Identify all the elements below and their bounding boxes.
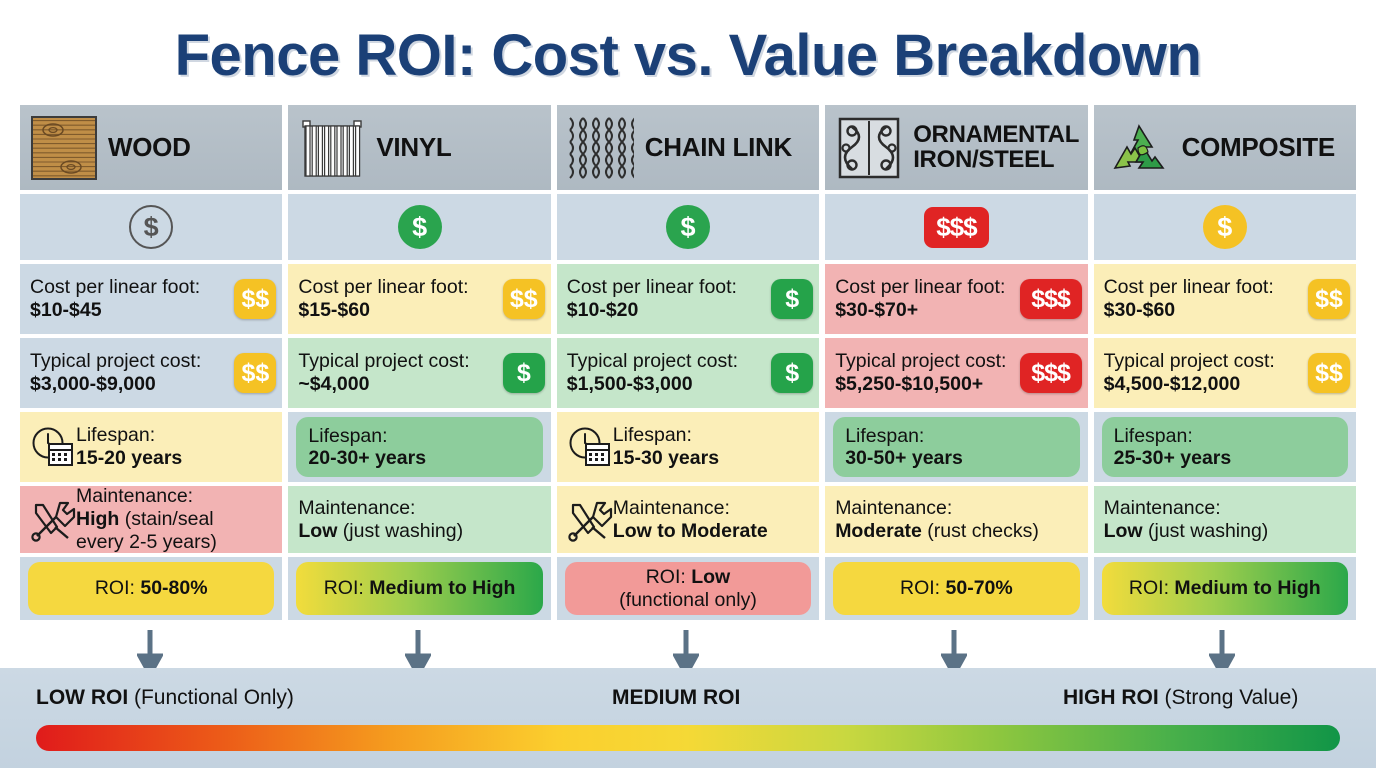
- project-cost-badge: $$: [1308, 353, 1350, 393]
- cost-badge: $$$: [1020, 353, 1082, 393]
- cost-badge: $: [771, 353, 813, 393]
- chain-link-icon: [565, 115, 637, 181]
- lifespan-pill: Lifespan:20-30+ years: [296, 417, 542, 477]
- lifespan-cell: Lifespan:20-30+ years: [288, 412, 550, 482]
- roi-pill: ROI: 50-70%: [833, 562, 1079, 615]
- cost-badge: $$: [1308, 353, 1350, 393]
- scale-label-medium: MEDIUM ROI: [612, 686, 740, 710]
- lifespan-text: Lifespan:15-20 years: [76, 424, 182, 470]
- column-composite: COMPOSITE$Cost per linear foot:$30-$60$$…: [1094, 105, 1356, 625]
- maintenance-text: Maintenance:Low to Moderate: [613, 497, 768, 543]
- roi-gradient-bar: [36, 725, 1340, 751]
- page-title: Fence ROI: Cost vs. Value Breakdown: [0, 22, 1376, 89]
- column-header-chain-link[interactable]: CHAIN LINK: [557, 105, 819, 190]
- cost-per-foot-text: Cost per linear foot:$10-$20: [567, 276, 737, 322]
- cost-per-foot-badge: $: [771, 279, 813, 319]
- scale-label-high: HIGH ROI (Strong Value): [1063, 686, 1298, 710]
- project-cost-badge: $$$: [1020, 353, 1082, 393]
- cost-badge: $: [503, 353, 545, 393]
- price-level-row: $: [20, 194, 282, 260]
- comparison-grid: WOOD$Cost per linear foot:$10-$45$$Typic…: [20, 105, 1356, 625]
- project-cost-text: Typical project cost:~$4,000: [298, 350, 469, 396]
- roi-pill: ROI: Medium to High: [296, 562, 542, 615]
- price-badge: $: [1203, 205, 1247, 249]
- cost-badge: $$: [234, 353, 276, 393]
- project-cost-cell: Typical project cost:~$4,000$: [288, 338, 550, 408]
- lifespan-cell: Lifespan:25-30+ years: [1094, 412, 1356, 482]
- lifespan-cell: Lifespan:15-20 years: [20, 412, 282, 482]
- lifespan-text: Lifespan:15-30 years: [613, 424, 719, 470]
- project-cost-badge: $: [771, 353, 813, 393]
- roi-text: ROI: Low(functional only): [619, 566, 757, 611]
- lifespan-cell: Lifespan:15-30 years: [557, 412, 819, 482]
- price-level-row: $: [557, 194, 819, 260]
- cost-per-foot-text: Cost per linear foot:$30-$60: [1104, 276, 1274, 322]
- cost-per-foot-badge: $$$: [1020, 279, 1082, 319]
- roi-cell: ROI: Medium to High: [1094, 557, 1356, 620]
- cost-per-foot-cell: Cost per linear foot:$30-$60$$: [1094, 264, 1356, 334]
- cost-per-foot-text: Cost per linear foot:$10-$45: [30, 276, 200, 322]
- cost-badge: $$: [1308, 279, 1350, 319]
- wrench-screwdriver-icon: [30, 497, 76, 543]
- price-level-row: $$$: [825, 194, 1087, 260]
- roi-pill: ROI: Low(functional only): [565, 562, 811, 615]
- cost-per-foot-text: Cost per linear foot:$15-$60: [298, 276, 468, 322]
- project-cost-cell: Typical project cost:$3,000-$9,000$$: [20, 338, 282, 408]
- wood-plank-icon: [28, 115, 100, 181]
- project-cost-text: Typical project cost:$4,500-$12,000: [1104, 350, 1275, 396]
- infographic-page: Fence ROI: Cost vs. Value Breakdown WOOD…: [0, 0, 1376, 768]
- roi-text: ROI: 50-70%: [900, 577, 1013, 599]
- maintenance-text: Maintenance:Low (just washing): [298, 497, 463, 543]
- ornamental-iron-icon: [833, 115, 905, 181]
- maintenance-text: Maintenance:High (stain/sealevery 2-5 ye…: [76, 485, 217, 554]
- roi-text: ROI: Medium to High: [1129, 577, 1321, 599]
- cost-per-foot-cell: Cost per linear foot:$15-$60$$: [288, 264, 550, 334]
- cost-per-foot-badge: $$: [503, 279, 545, 319]
- column-title: WOOD: [108, 134, 191, 161]
- lifespan-cell: Lifespan:30-50+ years: [825, 412, 1087, 482]
- price-badge: $$$: [924, 207, 988, 248]
- column-vinyl: VINYL$Cost per linear foot:$15-$60$$Typi…: [288, 105, 550, 625]
- cost-per-foot-cell: Cost per linear foot:$10-$45$$: [20, 264, 282, 334]
- cost-per-foot-cell: Cost per linear foot:$30-$70+$$$: [825, 264, 1087, 334]
- recycle-icon: [1102, 115, 1174, 181]
- roi-scale-labels: LOW ROI (Functional Only) MEDIUM ROI HIG…: [0, 686, 1376, 716]
- maintenance-text: Maintenance:Low (just washing): [1104, 497, 1269, 543]
- cost-badge: $$$: [1020, 279, 1082, 319]
- price-badge: $: [129, 205, 173, 249]
- project-cost-badge: $$: [234, 353, 276, 393]
- column-title: CHAIN LINK: [645, 134, 792, 161]
- price-badge: $: [666, 205, 710, 249]
- column-header-composite[interactable]: COMPOSITE: [1094, 105, 1356, 190]
- roi-text: ROI: 50-80%: [95, 577, 208, 599]
- clock-calendar-icon: [30, 426, 76, 468]
- column-title: ORNAMENTALIRON/STEEL: [913, 123, 1079, 172]
- roi-cell: ROI: 50-80%: [20, 557, 282, 620]
- project-cost-cell: Typical project cost:$4,500-$12,000$$: [1094, 338, 1356, 408]
- cost-badge: $: [771, 279, 813, 319]
- cost-badge: $$: [234, 279, 276, 319]
- price-level-row: $: [288, 194, 550, 260]
- cost-per-foot-badge: $$: [234, 279, 276, 319]
- cost-badge: $$: [503, 279, 545, 319]
- roi-pill: ROI: Medium to High: [1102, 562, 1348, 615]
- column-header-ornamental-iron-steel[interactable]: ORNAMENTALIRON/STEEL: [825, 105, 1087, 190]
- vinyl-fence-icon: [296, 115, 368, 181]
- maintenance-cell: Maintenance:Moderate (rust checks): [825, 486, 1087, 553]
- project-cost-text: Typical project cost:$1,500-$3,000: [567, 350, 738, 396]
- lifespan-pill: Lifespan:30-50+ years: [833, 417, 1079, 477]
- lifespan-pill: Lifespan:25-30+ years: [1102, 417, 1348, 477]
- price-badge: $: [398, 205, 442, 249]
- price-level-row: $: [1094, 194, 1356, 260]
- lifespan-text: Lifespan:20-30+ years: [308, 425, 426, 470]
- column-chain-link: CHAIN LINK$Cost per linear foot:$10-$20$…: [557, 105, 819, 625]
- clock-calendar-icon: [567, 426, 613, 468]
- maintenance-cell: Maintenance:Low to Moderate: [557, 486, 819, 553]
- maintenance-cell: Maintenance:Low (just washing): [288, 486, 550, 553]
- column-title: VINYL: [376, 134, 451, 161]
- cost-per-foot-text: Cost per linear foot:$30-$70+: [835, 276, 1005, 322]
- roi-cell: ROI: 50-70%: [825, 557, 1087, 620]
- scale-label-low: LOW ROI (Functional Only): [36, 686, 294, 710]
- project-cost-cell: Typical project cost:$5,250-$10,500+$$$: [825, 338, 1087, 408]
- column-header-vinyl[interactable]: VINYL: [288, 105, 550, 190]
- maintenance-cell: Maintenance:Low (just washing): [1094, 486, 1356, 553]
- column-header-wood[interactable]: WOOD: [20, 105, 282, 190]
- roi-pill: ROI: 50-80%: [28, 562, 274, 615]
- column-title: COMPOSITE: [1182, 134, 1335, 161]
- column-wood: WOOD$Cost per linear foot:$10-$45$$Typic…: [20, 105, 282, 625]
- project-cost-badge: $: [503, 353, 545, 393]
- maintenance-cell: Maintenance:High (stain/sealevery 2-5 ye…: [20, 486, 282, 553]
- wrench-screwdriver-icon: [567, 497, 613, 543]
- roi-text: ROI: Medium to High: [324, 577, 516, 599]
- lifespan-text: Lifespan:30-50+ years: [845, 425, 963, 470]
- roi-cell: ROI: Medium to High: [288, 557, 550, 620]
- project-cost-text: Typical project cost:$3,000-$9,000: [30, 350, 201, 396]
- project-cost-cell: Typical project cost:$1,500-$3,000$: [557, 338, 819, 408]
- column-ornamental-iron-steel: ORNAMENTALIRON/STEEL$$$Cost per linear f…: [825, 105, 1087, 625]
- lifespan-text: Lifespan:25-30+ years: [1114, 425, 1232, 470]
- project-cost-text: Typical project cost:$5,250-$10,500+: [835, 350, 1006, 396]
- cost-per-foot-cell: Cost per linear foot:$10-$20$: [557, 264, 819, 334]
- cost-per-foot-badge: $$: [1308, 279, 1350, 319]
- maintenance-text: Maintenance:Moderate (rust checks): [835, 497, 1039, 543]
- roi-scale: LOW ROI (Functional Only) MEDIUM ROI HIG…: [0, 668, 1376, 768]
- roi-cell: ROI: Low(functional only): [557, 557, 819, 620]
